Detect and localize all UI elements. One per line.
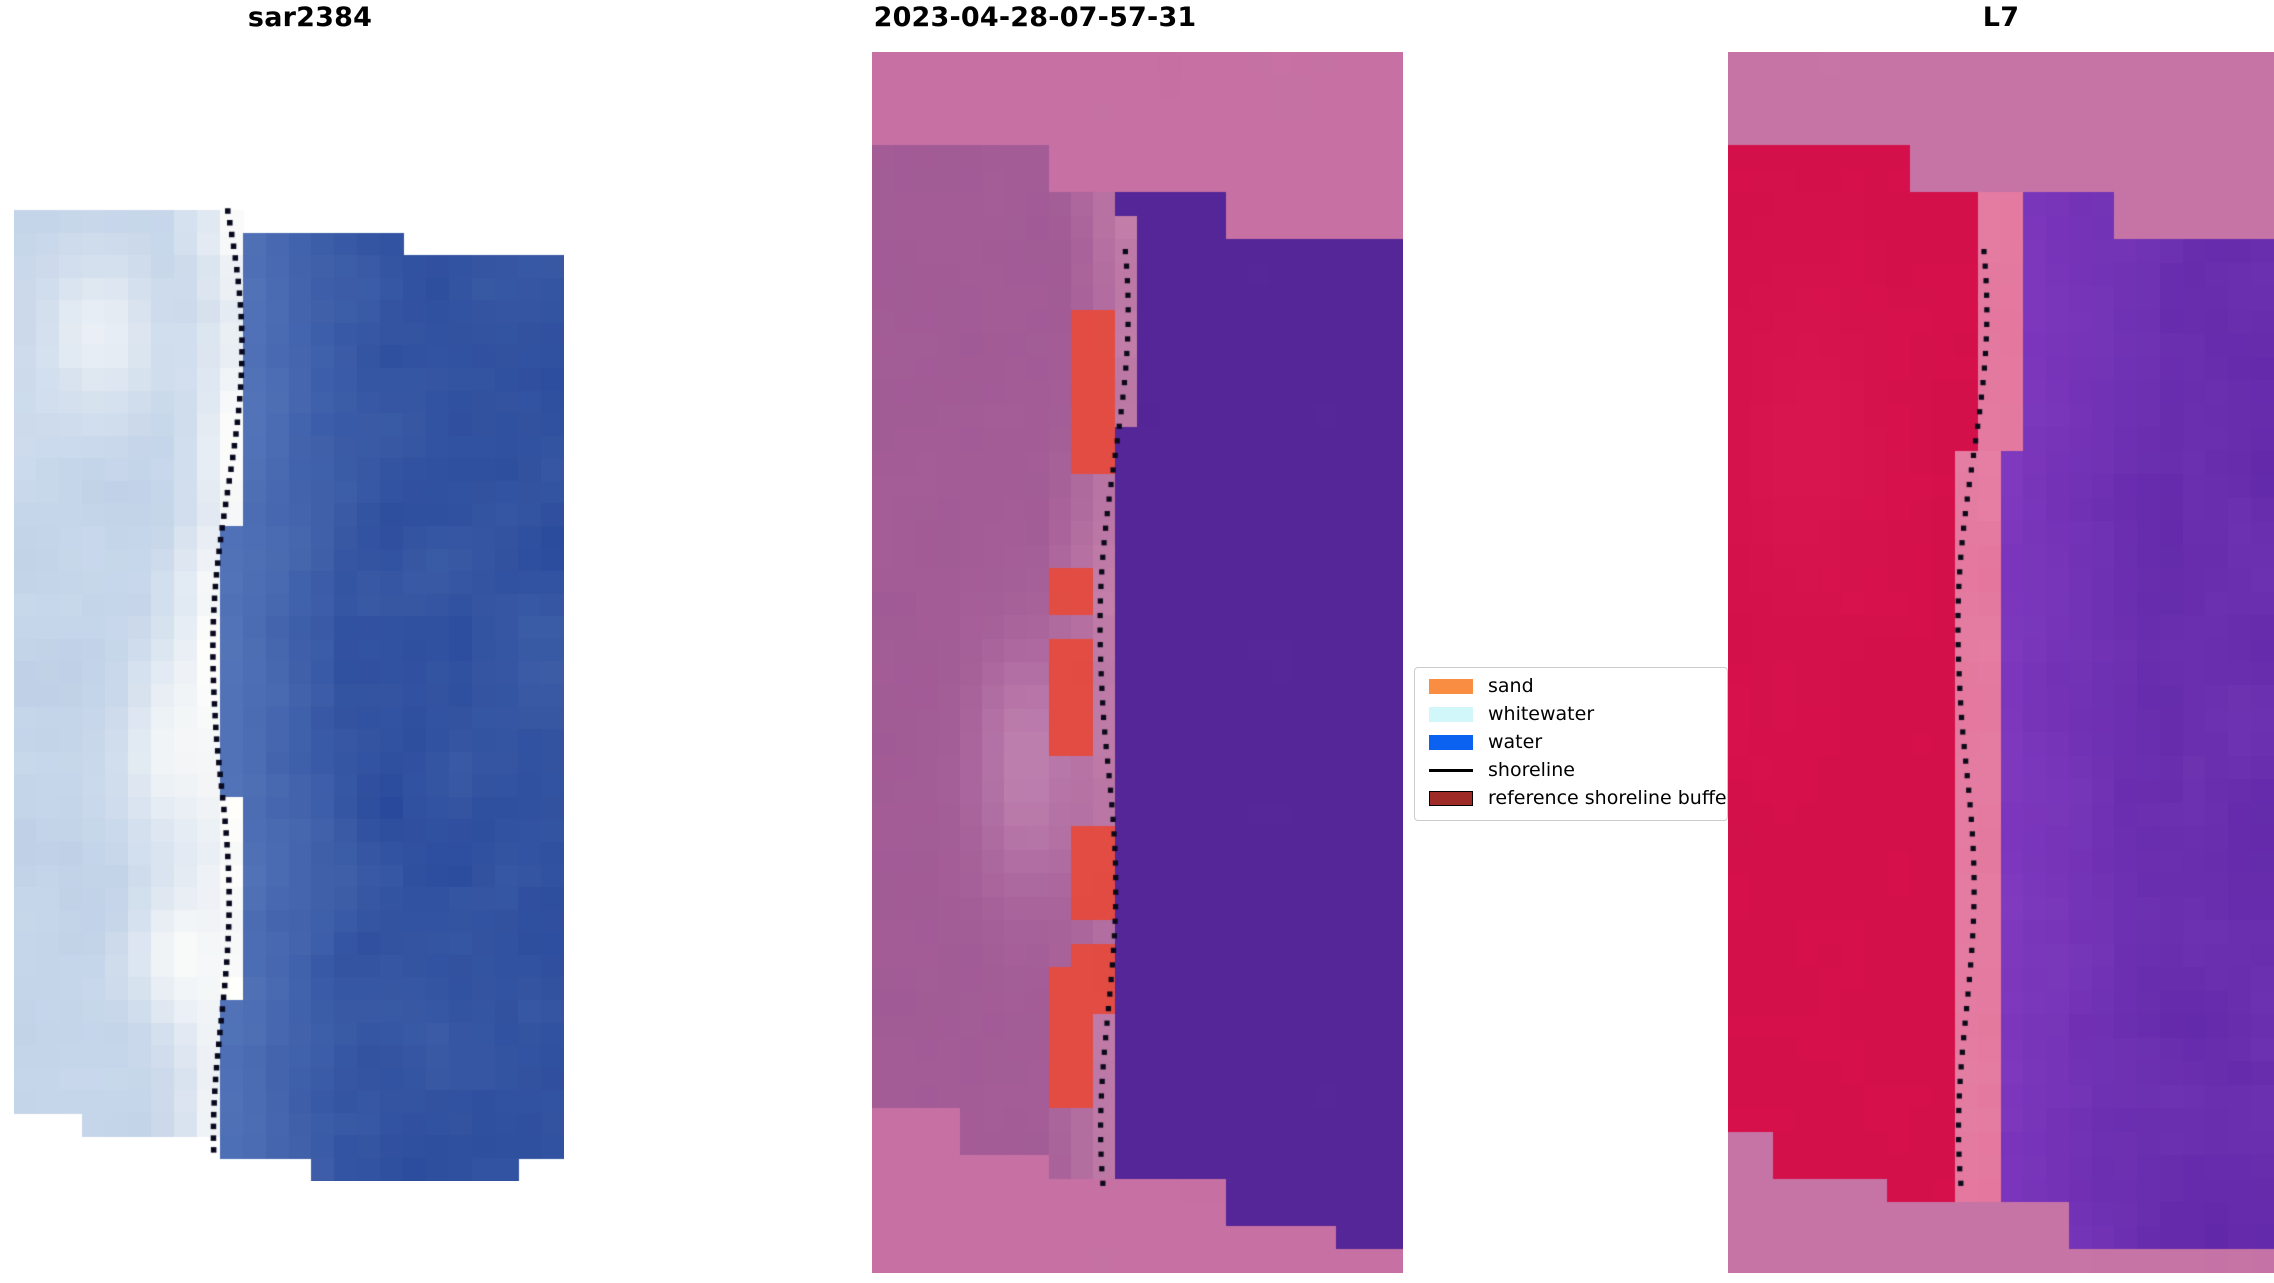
legend-swatch-sand (1429, 679, 1473, 694)
panel-title-sar2384: sar2384 (0, 2, 620, 33)
legend-item-whitewater: whitewater (1429, 704, 1594, 725)
legend-label-water: water (1488, 732, 1542, 753)
panel-sar2384: sar2384 (0, 0, 620, 1283)
legend-label-sand: sand (1488, 676, 1534, 697)
legend-item-sand: sand (1429, 676, 1534, 697)
classified-raster-image (872, 52, 1403, 1273)
legend-item-reference-shoreline-buffer: reference shoreline buffer (1429, 788, 1728, 809)
sar-raster-image (14, 188, 564, 1181)
panel-classified: 2023-04-28-07-57-31 (640, 0, 1430, 1283)
legend-swatch-reference-shoreline-buffer (1429, 791, 1473, 806)
legend-item-shoreline: shoreline (1429, 760, 1575, 781)
panel-title-classified: 2023-04-28-07-57-31 (640, 2, 1430, 33)
legend-swatch-water (1429, 735, 1473, 750)
legend-label-whitewater: whitewater (1488, 704, 1594, 725)
l7-raster-image (1728, 52, 2274, 1273)
legend-label-reference-shoreline-buffer: reference shoreline buffer (1488, 788, 1728, 809)
legend-item-water: water (1429, 732, 1542, 753)
legend-swatch-shoreline (1429, 769, 1473, 772)
panel-title-l7: L7 (1728, 2, 2274, 33)
panel-l7: L7 (1728, 0, 2274, 1283)
legend: sand whitewater water shoreline referenc… (1414, 667, 1728, 821)
legend-swatch-whitewater (1429, 707, 1473, 722)
legend-label-shoreline: shoreline (1488, 760, 1575, 781)
